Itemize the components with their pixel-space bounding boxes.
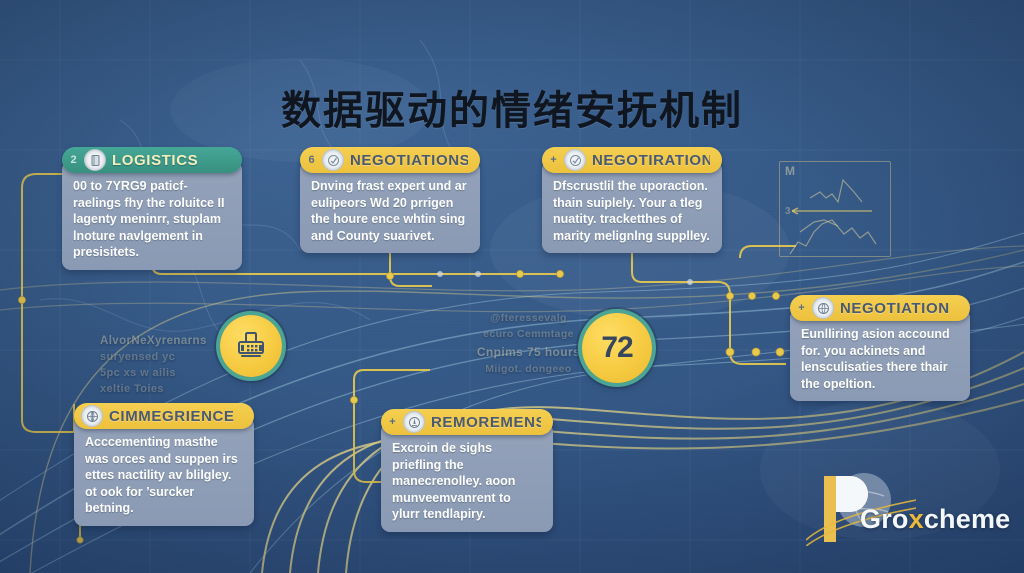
card-negotiations-c-body: Eunlliring asion accound for. you ackine… (790, 309, 970, 401)
chart-marker-bottom: 3 (785, 206, 791, 217)
brand-word-before: Gro (860, 504, 909, 534)
card-negotiations-b-number: + (549, 154, 558, 166)
card-negotiations-b-title: NEGOTIRATION (592, 152, 710, 169)
card-logistics-body: 00 to 7YRG9 paticf-raelings fhy the rolu… (62, 161, 242, 270)
page-title: 数据驱动的情绪安抚机制 (0, 78, 1024, 136)
card-negotiations-b-body: Dfscrustlil the uporaction. thain suiple… (542, 161, 722, 253)
ghost-left-line-2: suryensed yc (100, 350, 230, 366)
card-negotiations-a-header[interactable]: 6 NEGOTIATIONS (300, 147, 480, 173)
ghost-mid-line-2: ecuro Cemmtage (466, 326, 591, 342)
metric-badge-72[interactable]: 72 (582, 313, 652, 383)
ghost-mid-line-4: Miigot. dongeeo (466, 361, 591, 377)
ghost-left-line-1: AlvorNeXyrenarns (100, 333, 230, 350)
slide-canvas: 数据驱动的情绪安抚机制 AlvorNeXyrenarns suryensed y… (0, 0, 1024, 573)
ghost-left-line-3: 5pc xs w ailis (100, 366, 230, 382)
card-experience-body: Acccementing masthe was orces and suppen… (74, 417, 254, 526)
card-logistics-title: LOGISTICS (112, 152, 198, 169)
ghost-text-center: @fteressevalg ecuro Cemmtage Cnpims 75 h… (466, 310, 591, 377)
card-requirements-header[interactable]: + REMOREMENS (381, 409, 553, 435)
card-logistics-number: 2 (69, 154, 78, 166)
card-negotiations-c-header[interactable]: + NEGOTIATION (790, 295, 970, 321)
card-negotiations-a-number: 6 (307, 154, 316, 166)
chart-marker-top: M (785, 164, 795, 178)
fax-machine-icon (234, 329, 268, 363)
card-negotiations-b-header[interactable]: + NEGOTIRATION (542, 147, 722, 173)
globe-icon (81, 405, 103, 427)
card-requirements-title: REMOREMENS (431, 414, 541, 431)
card-experience-header[interactable]: CIMMEGRIENCE (74, 403, 254, 429)
card-negotiations-a-title: NEGOTIATIONS (350, 152, 468, 169)
card-logistics-header[interactable]: 2 LOGISTICS (62, 147, 242, 173)
card-negotiations-c-title: NEGOTIATION (840, 300, 950, 317)
ghost-mid-line-3: Cnpims 75 hours (466, 343, 591, 362)
brand-wordmark: Groxcheme (860, 504, 1010, 535)
card-logistics[interactable]: 2 LOGISTICS 00 to 7YRG9 paticf-raelings … (62, 147, 242, 270)
card-negotiations-c[interactable]: + NEGOTIATION Eunlliring asion accound f… (790, 295, 970, 401)
card-requirements-body: Excroin de sighs priefling the manecreno… (381, 423, 553, 532)
card-negotiations-a[interactable]: 6 NEGOTIATIONS Dnving frast expert und a… (300, 147, 480, 253)
ghost-mid-line-1: @fteressevalg (466, 310, 591, 326)
fax-machine-badge[interactable] (220, 315, 282, 377)
globe-icon (812, 297, 834, 319)
gauge-icon (403, 411, 425, 433)
card-negotiations-b[interactable]: + NEGOTIRATION Dfscrustlil the uporactio… (542, 147, 722, 253)
document-icon (84, 149, 106, 171)
ghost-left-line-4: xeltie Toies (100, 382, 230, 398)
metric-badge-value: 72 (601, 331, 632, 365)
card-requirements[interactable]: + REMOREMENS Excroin de sighs priefling … (381, 409, 553, 532)
line-chart-icon (780, 162, 890, 256)
check-circle-icon (564, 149, 586, 171)
brand-word-accent: x (909, 504, 924, 534)
brand-word-after: cheme (924, 504, 1011, 534)
card-negotiations-a-body: Dnving frast expert und ar eulipeors Wd … (300, 161, 480, 253)
card-negotiations-c-number: + (797, 302, 806, 314)
brand-logo[interactable]: Groxcheme (806, 470, 1006, 548)
card-experience[interactable]: CIMMEGRIENCE Acccementing masthe was orc… (74, 403, 254, 526)
clock-check-icon (322, 149, 344, 171)
line-chart-panel: M 3 (779, 161, 891, 257)
card-requirements-number: + (388, 416, 397, 428)
ghost-text-left: AlvorNeXyrenarns suryensed yc 5pc xs w a… (100, 333, 230, 397)
card-experience-title: CIMMEGRIENCE (109, 408, 235, 425)
